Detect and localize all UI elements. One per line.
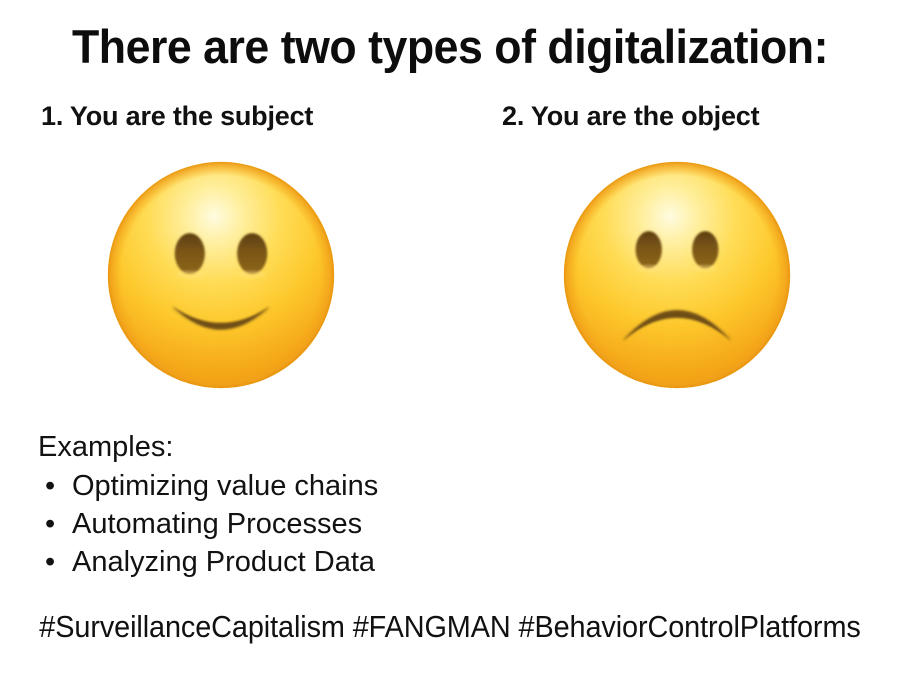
list-item-label: Analyzing Product Data — [72, 546, 375, 578]
column-heading-2: 2. You are the object — [502, 101, 759, 132]
list-item: • Optimizing value chains — [38, 467, 378, 505]
list-item-label: Automating Processes — [72, 508, 362, 540]
column-subject: 1. You are the subject — [0, 0, 450, 674]
list-item: • Automating Processes — [38, 505, 378, 543]
frowning-face-emoji — [560, 158, 794, 392]
examples-label: Examples: — [38, 428, 378, 467]
slightly-smiling-face-emoji — [104, 158, 338, 392]
hashtag-footer: #SurveillanceCapitalism #FANGMAN #Behavi… — [32, 609, 869, 645]
bullet-icon: • — [45, 543, 55, 581]
examples-block-1: Examples: • Optimizing value chains • Au… — [38, 428, 378, 581]
column-object: 2. You are the object — [450, 0, 900, 674]
slide-canvas: There are two types of digitalization: 1… — [0, 0, 900, 674]
list-item: • Analyzing Product Data — [38, 543, 378, 581]
column-heading-1: 1. You are the subject — [41, 101, 313, 132]
list-item-label: Optimizing value chains — [72, 470, 378, 502]
bullet-icon: • — [45, 505, 55, 543]
bullet-icon: • — [45, 467, 55, 505]
examples-list-1: • Optimizing value chains • Automating P… — [38, 467, 378, 581]
